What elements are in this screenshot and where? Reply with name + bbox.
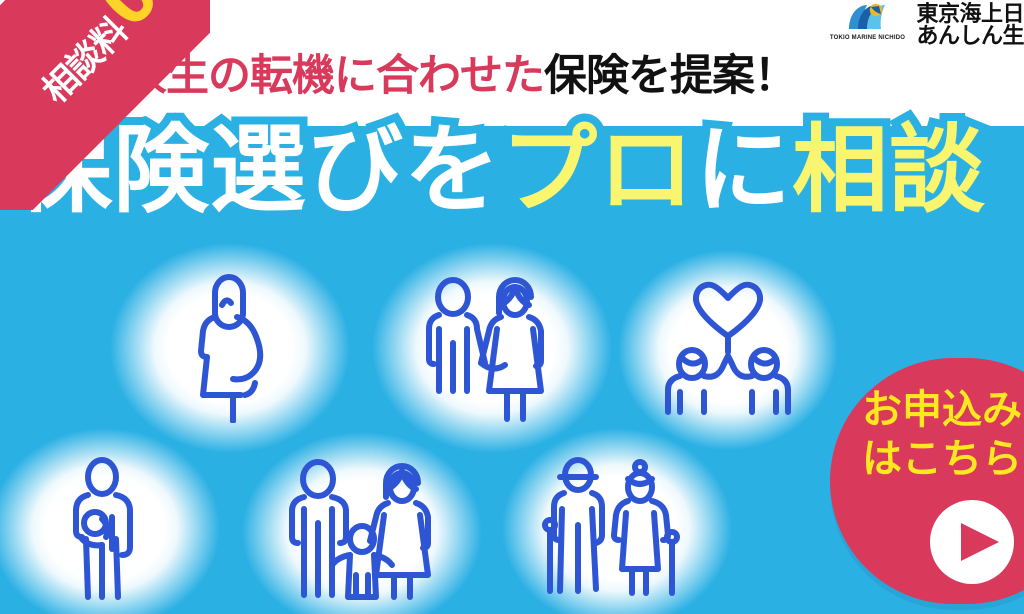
- play-triangle-icon[interactable]: [930, 500, 1014, 584]
- headline-secondary-part4: 相談: [792, 117, 986, 224]
- ribbon-label: 相談料: [37, 12, 134, 109]
- logo-jp-line2: あんしん生: [916, 25, 1024, 47]
- insurance-promo-banner: 相談料 0 円 TOKIO MARINE NICHIDO 東京海上日 あんしん生: [0, 0, 1024, 614]
- icon-cell-family: [242, 432, 482, 614]
- cta-label: お申込み はこちら: [862, 386, 1022, 484]
- icon-cell-pregnant-woman: [110, 243, 350, 453]
- cta-label-line2: はこちら: [862, 435, 1022, 484]
- icon-cell-heart-people: [618, 250, 838, 450]
- icon-cell-parent-baby: [0, 428, 220, 614]
- brand-logo: TOKIO MARINE NICHIDO 東京海上日 あんしん生: [828, 2, 1024, 47]
- logo-japanese-name: 東京海上日 あんしん生: [916, 2, 1024, 47]
- headline-secondary-part2: プロ: [501, 117, 695, 224]
- couple-holding-hands-icon: [417, 273, 567, 423]
- cta-label-line1: お申込み: [862, 386, 1022, 435]
- headline-secondary-part3: に: [695, 117, 792, 224]
- headline-primary-black: 保険を提案！: [544, 52, 796, 100]
- logo-romaji-line2: NICHIDO: [878, 35, 905, 41]
- tokio-marine-nichido-logo-icon: TOKIO MARINE NICHIDO: [828, 2, 906, 42]
- pregnant-woman-icon: [175, 273, 285, 423]
- parent-with-baby-icon: [50, 453, 160, 603]
- elderly-couple-icon: [542, 453, 692, 603]
- two-people-heart-icon: [658, 280, 798, 420]
- ribbon-band: 相談料 0 円: [0, 0, 210, 210]
- ribbon-text: 相談料 0 円: [15, 0, 192, 109]
- icon-cell-elderly-couple: [502, 428, 732, 614]
- family-with-child-icon: [282, 457, 442, 607]
- logo-romaji-line1: TOKIO MARINE: [830, 35, 877, 41]
- logo-jp-line1: 東京海上日: [916, 3, 1024, 25]
- icon-cell-couple: [372, 243, 612, 453]
- corner-ribbon: 相談料 0 円: [0, 0, 210, 210]
- logo-romaji: TOKIO MARINE NICHIDO: [830, 34, 905, 42]
- apply-now-cta-button[interactable]: お申込み はこちら: [830, 358, 1024, 604]
